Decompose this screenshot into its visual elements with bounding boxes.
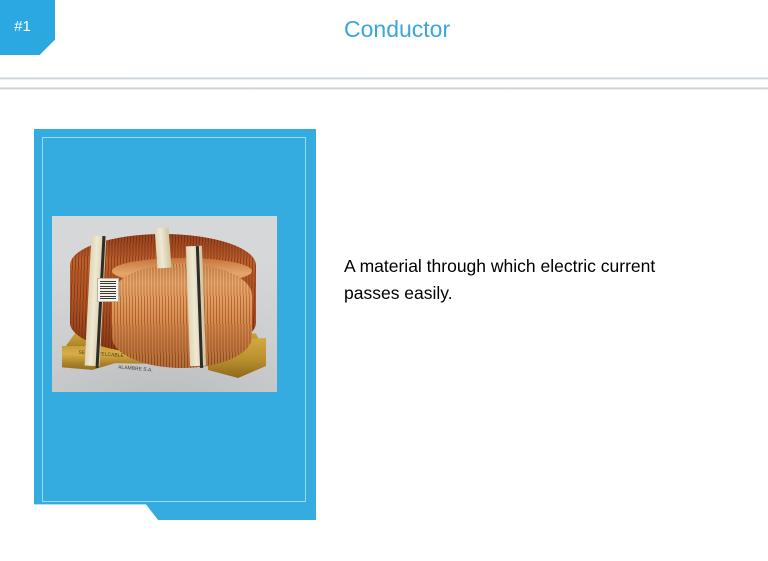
- header-divider-bottom: [0, 87, 768, 90]
- slide-header: #1 Conductor: [0, 0, 768, 78]
- page-title: Conductor: [344, 16, 450, 43]
- slide-number-label: #1: [0, 18, 45, 35]
- header-divider-top: [0, 77, 768, 80]
- definition-text: A material through which electric curren…: [344, 253, 694, 307]
- copper-coil-front: [112, 264, 252, 368]
- slide-number-badge: #1: [0, 0, 55, 55]
- shipping-label-tag: [97, 278, 119, 302]
- strap-band-mid: [155, 228, 172, 269]
- conductor-photo: SERVIN TELCABLE ALAMBRE S.A.: [52, 216, 277, 392]
